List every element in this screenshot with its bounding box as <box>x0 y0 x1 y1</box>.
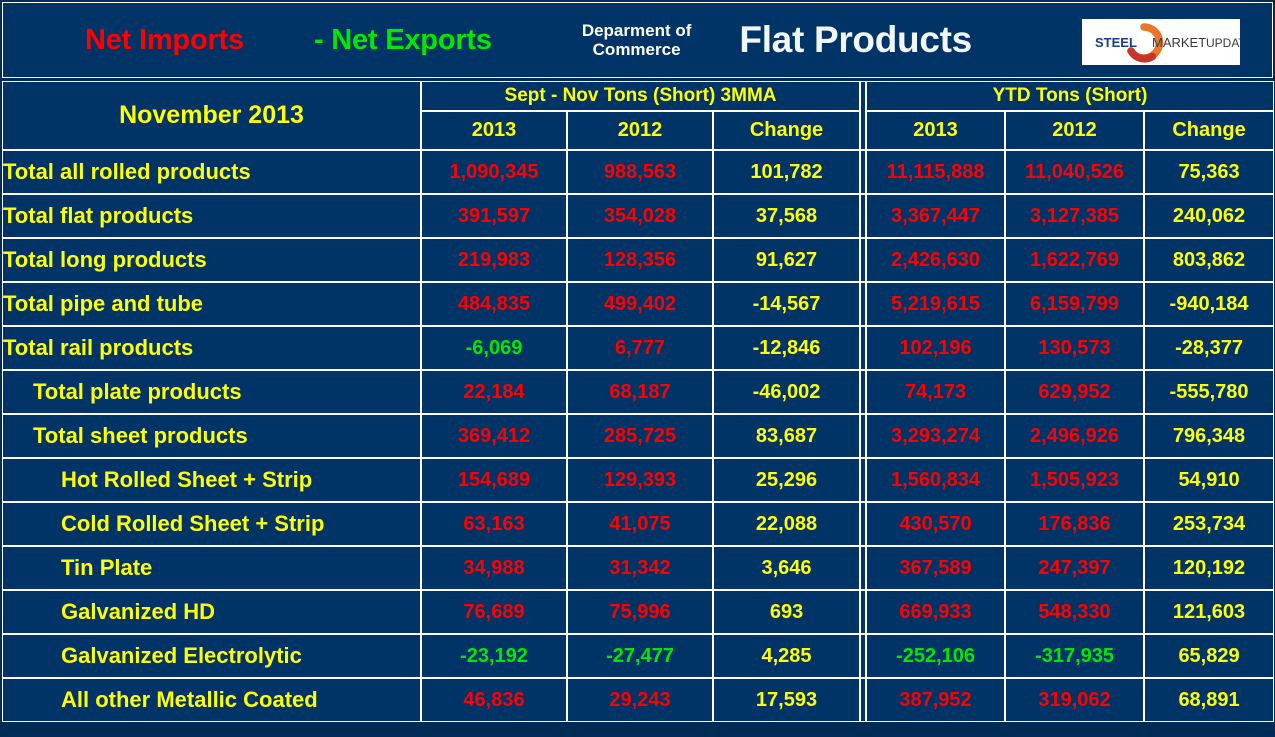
table-cell: 629,952 <box>1005 370 1144 414</box>
group-header-3mma: Sept - Nov Tons (Short) 3MMA <box>421 81 860 111</box>
table-cell: -555,780 <box>1144 370 1274 414</box>
table-cell: -23,192 <box>421 634 567 678</box>
table-cell: 1,622,769 <box>1005 238 1144 282</box>
table-cell: 11,040,526 <box>1005 150 1144 194</box>
row-label: Total pipe and tube <box>2 282 421 326</box>
column-header-ytd-2013: 2013 <box>866 111 1005 150</box>
row-label: Total flat products <box>2 194 421 238</box>
column-header-3mma-change: Change <box>713 111 860 150</box>
table-cell: 176,836 <box>1005 502 1144 546</box>
table-row: Total all rolled products1,090,345988,56… <box>2 150 1274 194</box>
table-cell: 46,836 <box>421 678 567 722</box>
table-cell: 391,597 <box>421 194 567 238</box>
table-cell: 54,910 <box>1144 458 1274 502</box>
slide-header: Net Imports - Net Exports Deparment of C… <box>2 2 1273 78</box>
table-cell: 76,689 <box>421 590 567 634</box>
table-cell: 37,568 <box>713 194 860 238</box>
slide-root: Net Imports - Net Exports Deparment of C… <box>0 0 1275 737</box>
table-cell: 11,115,888 <box>866 150 1005 194</box>
table-row: Total long products219,983128,35691,6272… <box>2 238 1274 282</box>
table-cell: 1,560,834 <box>866 458 1005 502</box>
table-row: Total sheet products369,412285,72583,687… <box>2 414 1274 458</box>
table-cell: 68,891 <box>1144 678 1274 722</box>
table-cell: 65,829 <box>1144 634 1274 678</box>
row-label: Total all rolled products <box>2 150 421 194</box>
table-row: Total plate products22,18468,187-46,0027… <box>2 370 1274 414</box>
logo-word-market: MARKET <box>1152 35 1206 50</box>
table-cell: 4,285 <box>713 634 860 678</box>
table-cell: 31,342 <box>567 546 713 590</box>
table-cell: 22,088 <box>713 502 860 546</box>
table-cell: 240,062 <box>1144 194 1274 238</box>
row-label: Cold Rolled Sheet + Strip <box>2 502 421 546</box>
table-row: Tin Plate34,98831,3423,646367,589247,397… <box>2 546 1274 590</box>
steel-market-update-logo: STEEL MARKET UPDATE <box>1082 19 1240 65</box>
table-cell: 253,734 <box>1144 502 1274 546</box>
table-cell: -12,846 <box>713 326 860 370</box>
row-label: Galvanized HD <box>2 590 421 634</box>
table-cell: 803,862 <box>1144 238 1274 282</box>
table-row: Total pipe and tube484,835499,402-14,567… <box>2 282 1274 326</box>
table-cell: 319,062 <box>1005 678 1144 722</box>
table-cell: 41,075 <box>567 502 713 546</box>
period-title: November 2013 <box>2 81 421 150</box>
table-body: Total all rolled products1,090,345988,56… <box>2 150 1274 722</box>
table-head: November 2013 Sept - Nov Tons (Short) 3M… <box>2 81 1274 150</box>
table-cell: 29,243 <box>567 678 713 722</box>
table-cell: 102,196 <box>866 326 1005 370</box>
table-cell: 247,397 <box>1005 546 1144 590</box>
table-cell: 121,603 <box>1144 590 1274 634</box>
table-cell: 1,090,345 <box>421 150 567 194</box>
table-cell: 219,983 <box>421 238 567 282</box>
table-cell: 130,573 <box>1005 326 1144 370</box>
table-cell: 25,296 <box>713 458 860 502</box>
table-cell: 74,173 <box>866 370 1005 414</box>
table-cell: 2,496,926 <box>1005 414 1144 458</box>
table-cell: 63,163 <box>421 502 567 546</box>
logo-word-steel: STEEL <box>1095 35 1137 50</box>
row-label: Total long products <box>2 238 421 282</box>
table-row: Cold Rolled Sheet + Strip63,16341,07522,… <box>2 502 1274 546</box>
table-cell: 68,187 <box>567 370 713 414</box>
table-cell: 3,646 <box>713 546 860 590</box>
table-cell: 83,687 <box>713 414 860 458</box>
table-cell: 128,356 <box>567 238 713 282</box>
table-row: Galvanized HD76,68975,996693669,933548,3… <box>2 590 1274 634</box>
column-header-ytd-2012: 2012 <box>1005 111 1144 150</box>
table-cell: -14,567 <box>713 282 860 326</box>
table-cell: 796,348 <box>1144 414 1274 458</box>
row-label: Tin Plate <box>2 546 421 590</box>
table-row: Total rail products-6,0696,777-12,846102… <box>2 326 1274 370</box>
table-cell: -252,106 <box>866 634 1005 678</box>
table-row: Hot Rolled Sheet + Strip154,689129,39325… <box>2 458 1274 502</box>
table-cell: 120,192 <box>1144 546 1274 590</box>
table-cell: 6,777 <box>567 326 713 370</box>
row-label: Total sheet products <box>2 414 421 458</box>
column-header-ytd-change: Change <box>1144 111 1274 150</box>
row-label: Hot Rolled Sheet + Strip <box>2 458 421 502</box>
logo-artwork: STEEL MARKET UPDATE <box>1082 19 1240 65</box>
row-label: Total rail products <box>2 326 421 370</box>
table-cell: 548,330 <box>1005 590 1144 634</box>
table-cell: 484,835 <box>421 282 567 326</box>
table-cell: 22,184 <box>421 370 567 414</box>
table-cell: 1,505,923 <box>1005 458 1144 502</box>
table-cell: 354,028 <box>567 194 713 238</box>
table-cell: 669,933 <box>866 590 1005 634</box>
table-cell: 499,402 <box>567 282 713 326</box>
table-cell: 2,426,630 <box>866 238 1005 282</box>
net-exports-label: - Net Exports <box>314 24 492 57</box>
table-cell: 285,725 <box>567 414 713 458</box>
table-cell: 693 <box>713 590 860 634</box>
table-cell: 3,293,274 <box>866 414 1005 458</box>
table-group-header-row: November 2013 Sept - Nov Tons (Short) 3M… <box>2 81 1274 111</box>
table-cell: 129,393 <box>567 458 713 502</box>
data-source-line-2: Commerce <box>593 40 681 59</box>
table-cell: -27,477 <box>567 634 713 678</box>
table-cell: 101,782 <box>713 150 860 194</box>
table-cell: -46,002 <box>713 370 860 414</box>
table-cell: 387,952 <box>866 678 1005 722</box>
table-cell: 75,996 <box>567 590 713 634</box>
table-row: All other Metallic Coated46,83629,24317,… <box>2 678 1274 722</box>
table-cell: 367,589 <box>866 546 1005 590</box>
logo-word-update: UPDATE <box>1206 36 1240 50</box>
group-header-ytd: YTD Tons (Short) <box>866 81 1274 111</box>
table-cell: 154,689 <box>421 458 567 502</box>
table-cell: 369,412 <box>421 414 567 458</box>
table-cell: 430,570 <box>866 502 1005 546</box>
trade-data-table: November 2013 Sept - Nov Tons (Short) 3M… <box>2 81 1274 722</box>
table-cell: 34,988 <box>421 546 567 590</box>
row-label: Total plate products <box>2 370 421 414</box>
data-source-label: Deparment of Commerce <box>582 21 692 59</box>
table-cell: -317,935 <box>1005 634 1144 678</box>
table-cell: -28,377 <box>1144 326 1274 370</box>
row-label: All other Metallic Coated <box>2 678 421 722</box>
table-cell: 988,563 <box>567 150 713 194</box>
column-header-3mma-2012: 2012 <box>567 111 713 150</box>
table-cell: 3,127,385 <box>1005 194 1144 238</box>
table-row: Galvanized Electrolytic-23,192-27,4774,2… <box>2 634 1274 678</box>
table-cell: 6,159,799 <box>1005 282 1144 326</box>
data-table-wrapper: November 2013 Sept - Nov Tons (Short) 3M… <box>2 81 1273 735</box>
table-cell: 5,219,615 <box>866 282 1005 326</box>
table-cell: 3,367,447 <box>866 194 1005 238</box>
table-cell: 75,363 <box>1144 150 1274 194</box>
table-cell: 91,627 <box>713 238 860 282</box>
row-label: Galvanized Electrolytic <box>2 634 421 678</box>
page-title: Flat Products <box>739 19 972 61</box>
table-row: Total flat products391,597354,02837,5683… <box>2 194 1274 238</box>
column-header-3mma-2013: 2013 <box>421 111 567 150</box>
table-cell: -940,184 <box>1144 282 1274 326</box>
data-source-line-1: Deparment of <box>582 21 692 40</box>
net-imports-label: Net Imports <box>85 24 244 57</box>
table-cell: 17,593 <box>713 678 860 722</box>
table-cell: -6,069 <box>421 326 567 370</box>
